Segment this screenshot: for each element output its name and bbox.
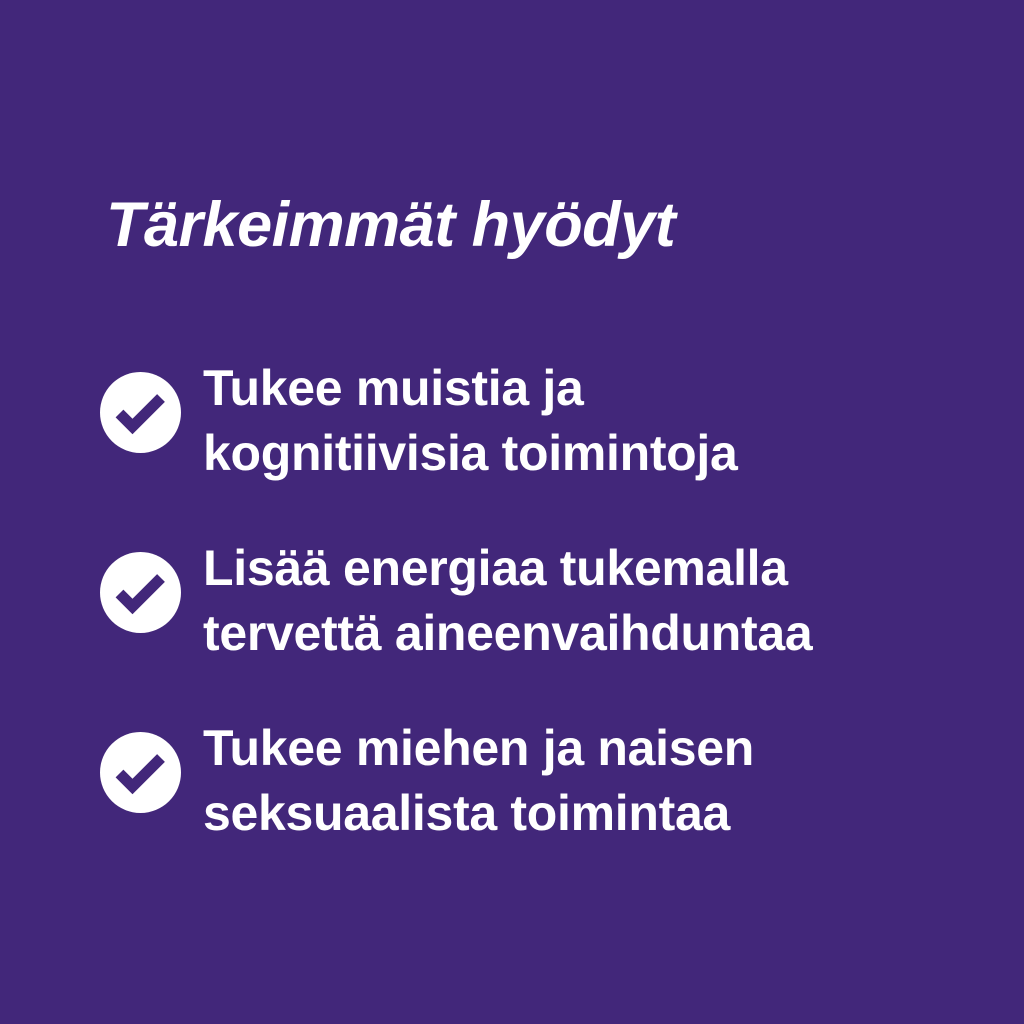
benefits-graphic: Tärkeimmät hyödyt Tukee muistia ja kogni…	[0, 0, 1024, 1024]
list-item-line: kognitiivisia toimintoja	[203, 421, 930, 486]
list-item-line: Lisää energiaa tukemalla	[203, 536, 930, 601]
benefits-list: Tukee muistia ja kognitiivisia toimintoj…	[100, 356, 930, 831]
list-item-label: Lisää energiaa tukemalla tervettä aineen…	[181, 536, 930, 666]
list-item-line: Tukee miehen ja naisen	[203, 716, 930, 781]
list-item-line: tervettä aineenvaihduntaa	[203, 601, 930, 666]
check-circle-icon	[100, 732, 181, 813]
list-item: Tukee miehen ja naisen seksuaalista toim…	[100, 716, 930, 831]
list-item-label: Tukee miehen ja naisen seksuaalista toim…	[181, 716, 930, 846]
check-circle-icon	[100, 552, 181, 633]
list-item: Tukee muistia ja kognitiivisia toimintoj…	[100, 356, 930, 471]
page-title: Tärkeimmät hyödyt	[106, 191, 675, 259]
list-item-line: Tukee muistia ja	[203, 356, 930, 421]
list-item-label: Tukee muistia ja kognitiivisia toimintoj…	[181, 356, 930, 486]
list-item-line: seksuaalista toimintaa	[203, 781, 930, 846]
list-item: Lisää energiaa tukemalla tervettä aineen…	[100, 536, 930, 651]
check-circle-icon	[100, 372, 181, 453]
